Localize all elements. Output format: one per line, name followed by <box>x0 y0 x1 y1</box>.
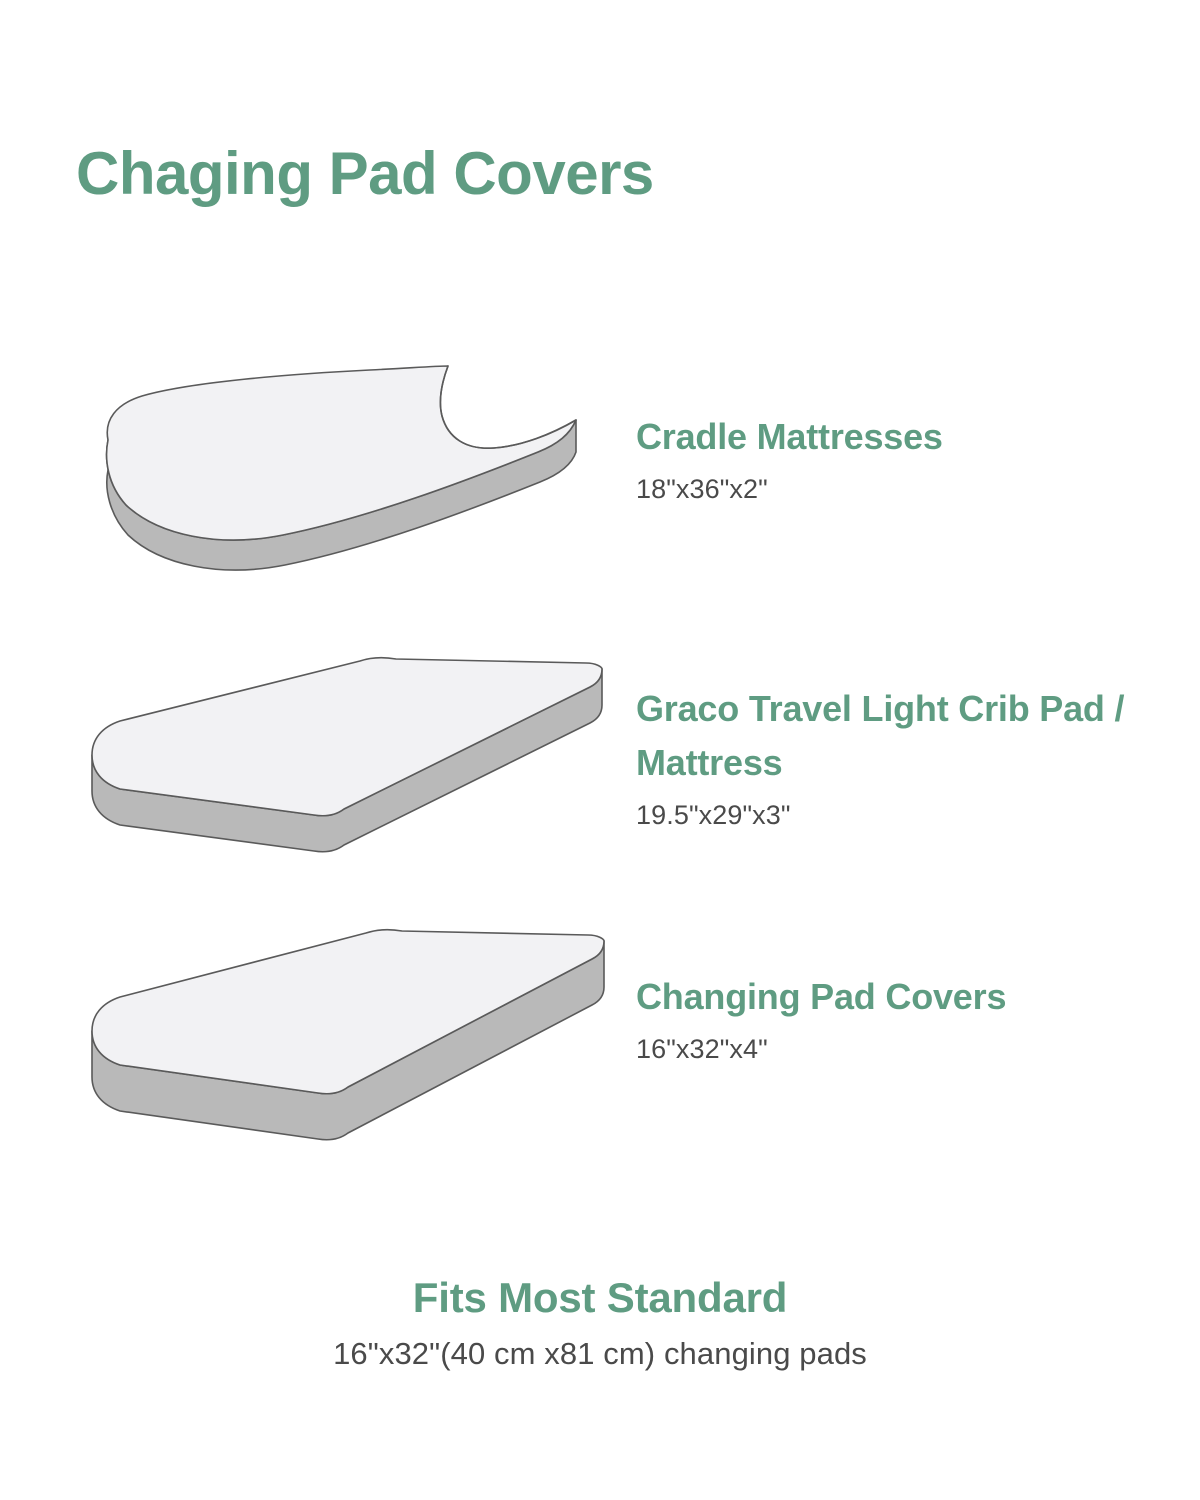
product-label-block: Changing Pad Covers 16"x32"x4" <box>636 970 1166 1068</box>
footer-headline: Fits Most Standard <box>0 1270 1200 1326</box>
product-label-block: Graco Travel Light Crib Pad / Mattress 1… <box>636 682 1166 834</box>
product-dimensions: 16"x32"x4" <box>636 1030 1166 1068</box>
footer-subline: 16"x32"(40 cm x81 cm) changing pads <box>0 1332 1200 1376</box>
product-row: Cradle Mattresses 18"x36"x2" <box>0 360 1200 610</box>
product-name: Cradle Mattresses <box>636 410 1166 464</box>
product-dimensions: 18"x36"x2" <box>636 470 1166 508</box>
pad-top-surface <box>107 366 576 540</box>
product-illustration-flat-mattress-thin <box>70 655 615 885</box>
product-illustration-flat-mattress-thick <box>70 925 615 1165</box>
page-title: Chaging Pad Covers <box>76 138 654 210</box>
infographic-page: Chaging Pad Covers Cradle Mattresses 18"… <box>0 0 1200 1500</box>
product-label-block: Cradle Mattresses 18"x36"x2" <box>636 410 1166 508</box>
product-dimensions: 19.5"x29"x3" <box>636 796 1166 834</box>
product-name: Changing Pad Covers <box>636 970 1166 1024</box>
product-row: Changing Pad Covers 16"x32"x4" <box>0 925 1200 1165</box>
product-name: Graco Travel Light Crib Pad / Mattress <box>636 682 1166 790</box>
product-illustration-contoured-pad <box>70 360 615 610</box>
footer-block: Fits Most Standard 16"x32"(40 cm x81 cm)… <box>0 1270 1200 1376</box>
product-row: Graco Travel Light Crib Pad / Mattress 1… <box>0 655 1200 885</box>
